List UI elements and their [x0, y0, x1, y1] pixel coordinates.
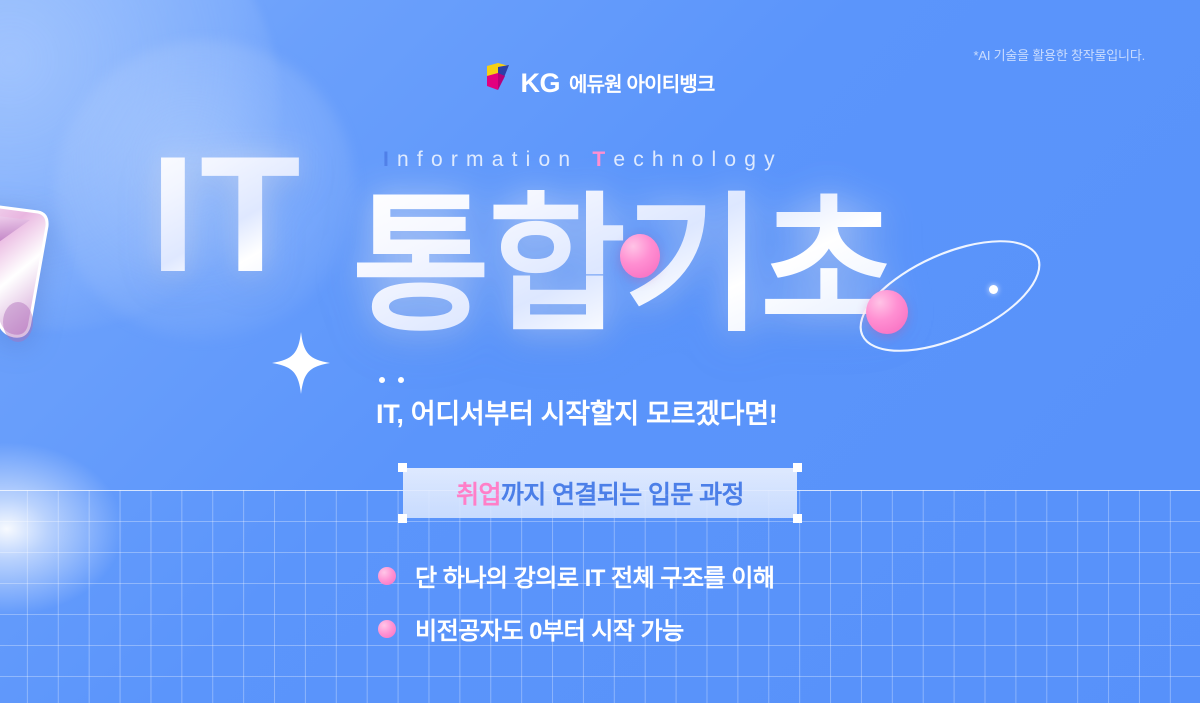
- subtitle-emphasis-dots: [379, 377, 404, 383]
- kg-logo-mark-icon: [485, 62, 511, 92]
- bullet-dot-icon: [378, 620, 396, 638]
- ai-disclaimer-note: *AI 기술을 활용한 창작물입니다.: [973, 45, 1145, 64]
- list-item: 비전공자도 0부터 시작 가능: [378, 611, 774, 646]
- promo-banner: KG 에듀원 아이티뱅크 *AI 기술을 활용한 창작물입니다. Informa…: [0, 0, 1200, 703]
- corner-light-glow: [0, 430, 140, 620]
- hero-subtitle: IT, 어디서부터 시작할지 모르겠다면!: [376, 392, 777, 431]
- highlight-banner: 취업까지 연결되는 입문 과정: [403, 468, 797, 518]
- selection-handle-bottom-right[interactable]: [793, 514, 802, 523]
- brand-name-text: 에듀원 아이티뱅크: [569, 73, 715, 95]
- eyebrow-letter-t: T: [592, 148, 613, 171]
- pink-sphere-decor-bottom: [866, 290, 908, 334]
- four-point-sparkle-icon: [272, 332, 330, 394]
- emphasis-dot-2: [398, 377, 404, 383]
- selection-handle-bottom-left[interactable]: [398, 514, 407, 523]
- brand-logo: KG 에듀원 아이티뱅크: [0, 70, 1200, 97]
- bullet-dot-icon: [378, 567, 396, 585]
- highlight-banner-text: 취업까지 연결되는 입문 과정: [456, 475, 744, 511]
- emphasis-dot-1: [379, 377, 385, 383]
- selection-handle-top-left[interactable]: [398, 463, 407, 472]
- brand-kg-text: KG: [520, 70, 560, 97]
- eyebrow-letter-i: I: [383, 148, 397, 171]
- highlight-accent-word: 취업: [456, 481, 501, 509]
- selection-handle-top-right[interactable]: [793, 463, 802, 472]
- pink-sphere-decor-top: [620, 234, 660, 278]
- list-item: 단 하나의 강의로 IT 전체 구조를 이해: [378, 558, 774, 593]
- bullet-text: 비전공자도 0부터 시작 가능: [415, 611, 684, 646]
- eyebrow-information-rest: nformation: [397, 148, 578, 171]
- eyebrow-space: [578, 148, 592, 171]
- highlight-rest-text: 까지 연결되는 입문 과정: [501, 481, 744, 509]
- eyebrow-technology-rest: echnology: [613, 148, 783, 171]
- highlight-banner-bar: 취업까지 연결되는 입문 과정: [403, 468, 797, 518]
- cursor-arrow-3d-icon: [0, 150, 130, 355]
- hero-big-it: IT: [150, 132, 305, 297]
- feature-bullet-list: 단 하나의 강의로 IT 전체 구조를 이해 비전공자도 0부터 시작 가능: [378, 558, 774, 646]
- orbit-white-dot: [989, 285, 998, 294]
- eyebrow-information-technology: Information Technology: [383, 148, 783, 172]
- bullet-text: 단 하나의 강의로 IT 전체 구조를 이해: [415, 558, 774, 593]
